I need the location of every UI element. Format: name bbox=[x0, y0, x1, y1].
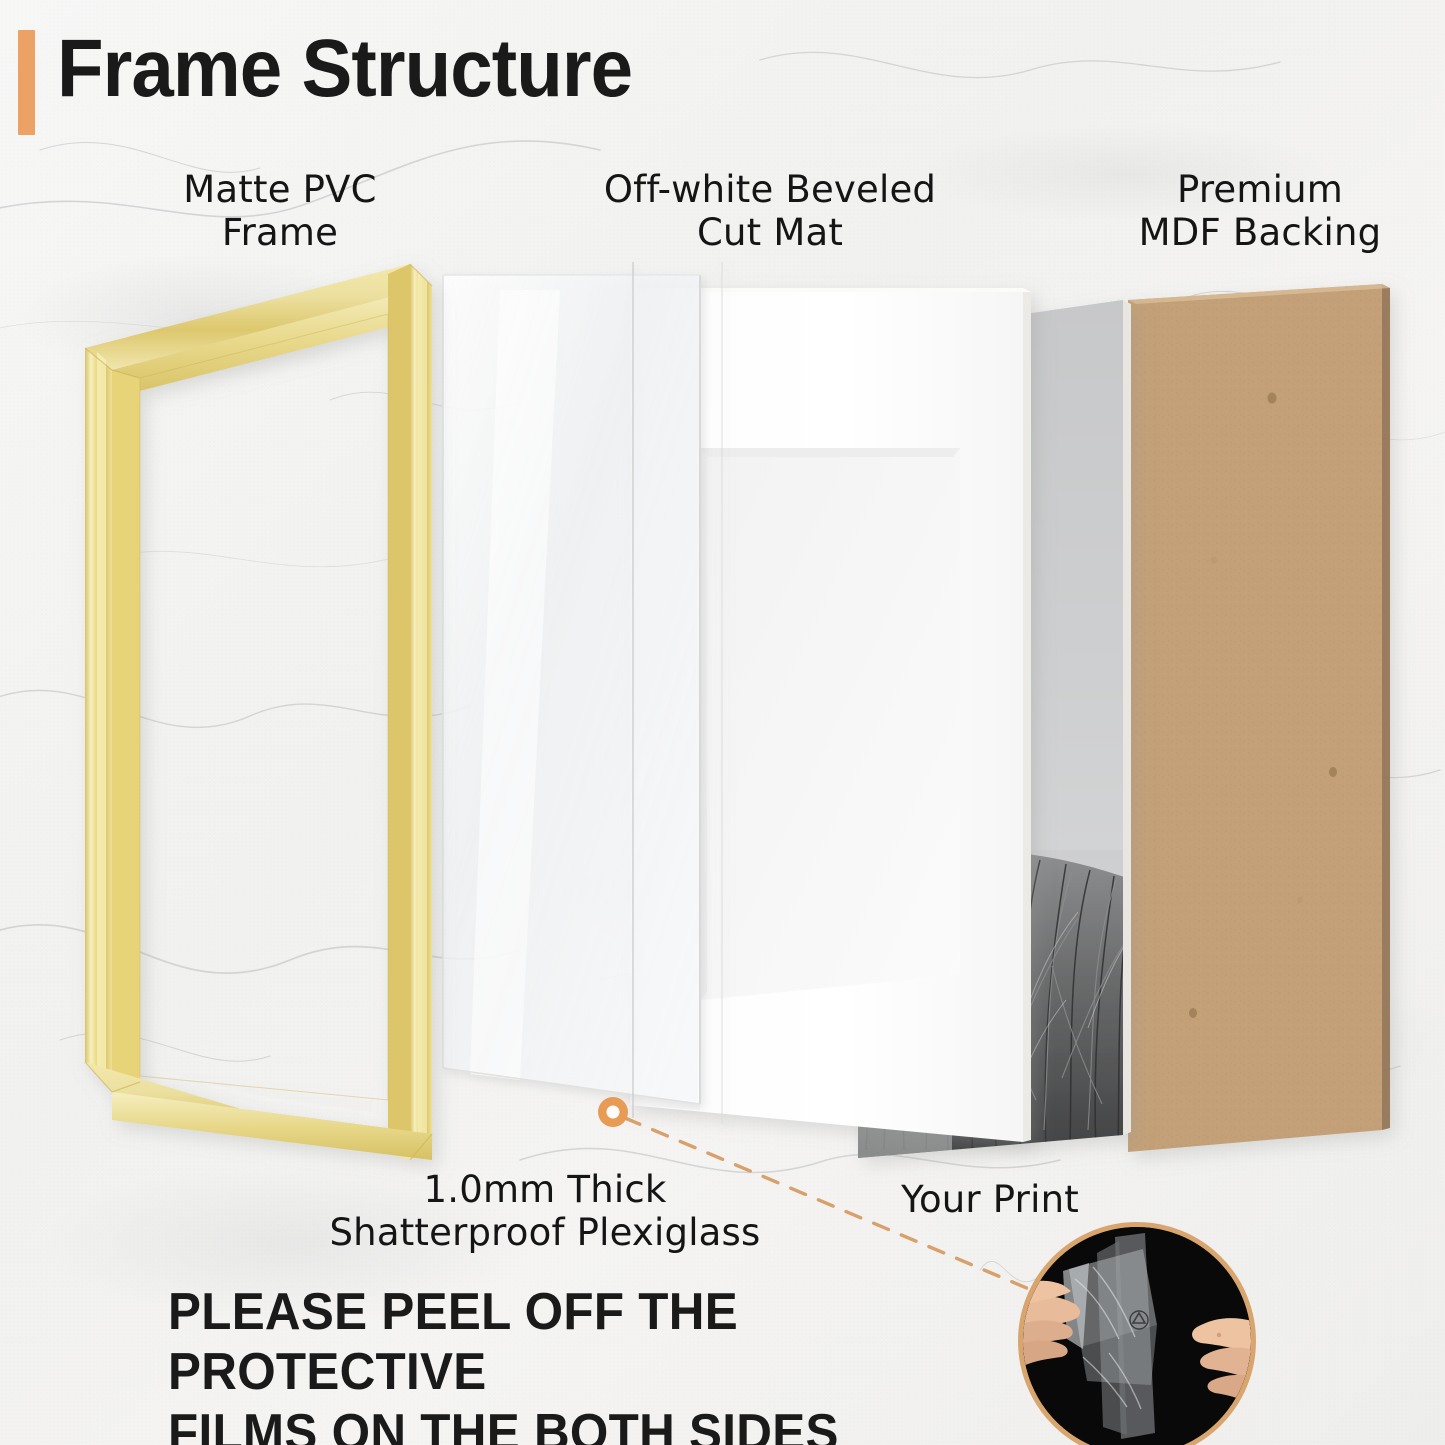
notice-line-1: PLEASE PEEL OFF THE PROTECTIVE bbox=[168, 1283, 738, 1401]
caption-backing: Premium MDF Backing bbox=[1080, 168, 1440, 255]
caption-plexiglass: 1.0mm Thick Shatterproof Plexiglass bbox=[250, 1168, 840, 1255]
inset-illustration bbox=[1023, 1227, 1251, 1445]
caption-backing-line1: Premium bbox=[1177, 168, 1343, 211]
layer-plexiglass bbox=[443, 262, 722, 1124]
caption-backing-line2: MDF Backing bbox=[1139, 211, 1382, 254]
caption-frame-line2: Frame bbox=[222, 211, 338, 254]
caption-mat-line1: Off-white Beveled bbox=[604, 168, 936, 211]
caption-frame-line1: Matte PVC bbox=[183, 168, 376, 211]
peel-film-notice: PLEASE PEEL OFF THE PROTECTIVE FILMS ON … bbox=[168, 1282, 1004, 1445]
ring-marker-icon bbox=[598, 1097, 628, 1127]
layer-mdf-backing bbox=[1128, 284, 1390, 1152]
notice-highlight: BOTH SIDES bbox=[534, 1403, 839, 1445]
caption-print: Your Print bbox=[845, 1178, 1135, 1221]
caption-frame: Matte PVC Frame bbox=[100, 168, 460, 255]
caption-plexiglass-line1: 1.0mm Thick bbox=[424, 1168, 667, 1211]
caption-plexiglass-line2: Shatterproof Plexiglass bbox=[329, 1211, 760, 1254]
caption-mat-line2: Cut Mat bbox=[697, 211, 843, 254]
caption-mat: Off-white Beveled Cut Mat bbox=[540, 168, 1000, 255]
infographic-canvas: Frame Structure bbox=[0, 0, 1445, 1445]
protective-film-inset-photo bbox=[1018, 1222, 1256, 1445]
layer-gold-frame bbox=[85, 264, 432, 1160]
notice-line-2-prefix: FILMS ON THE bbox=[168, 1404, 534, 1445]
